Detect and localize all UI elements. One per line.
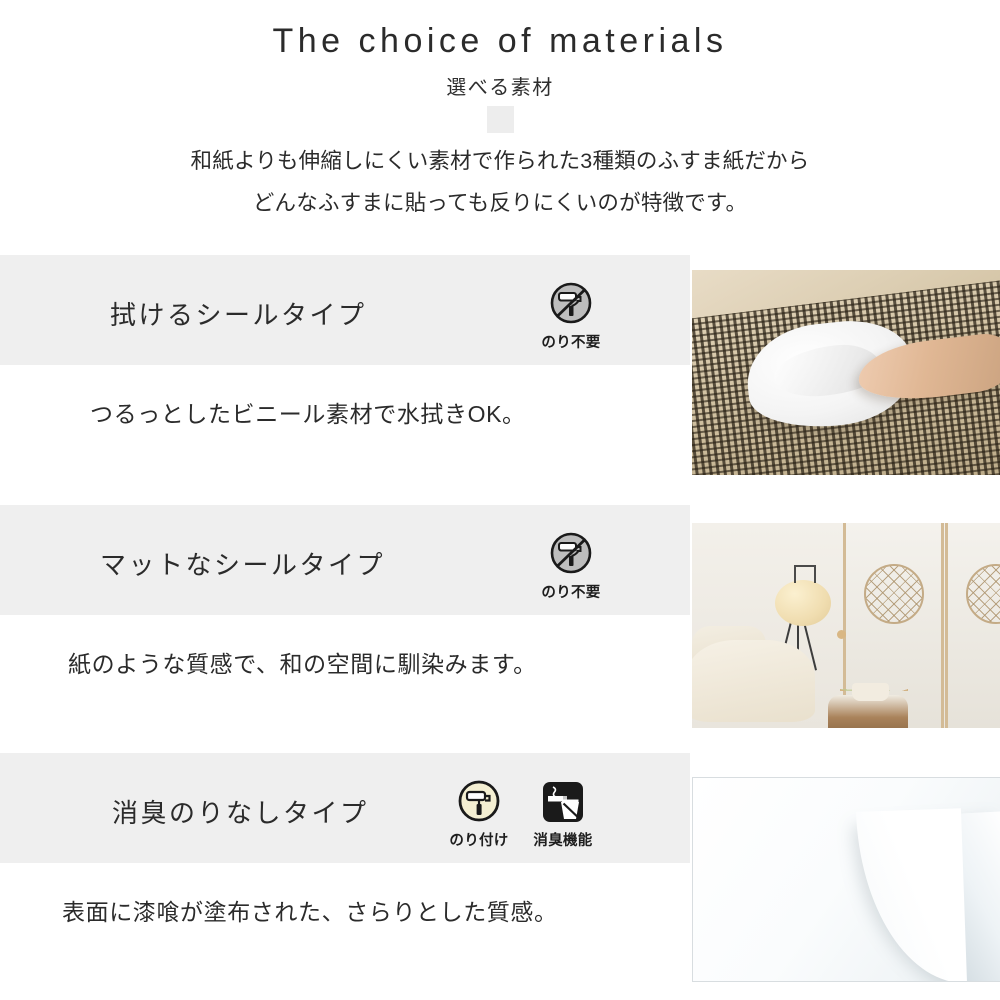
lead-line-2: どんなふすまに貼っても反りにくいのが特徴です。 [0,182,1000,224]
section-1-badges: のり不要 [540,281,602,352]
page-title: The choice of materials [0,22,1000,61]
material-section-1: 拭けるシールタイプ のり不要 つるっとしたビニール素材で水拭きOK。 [0,255,1000,485]
badge-glue-applied: のり付け [448,779,510,850]
section-1-description: つるっとしたビニール素材で水拭きOK。 [90,395,526,429]
section-3-badges: のり付け 消臭機能 [448,779,594,850]
material-section-2: マットなシールタイプ のり不要 紙のような質感で、和の空間に馴染みます。 [0,505,1000,735]
badge-no-glue-label: のり不要 [541,331,600,352]
paint-roller-icon [455,779,503,827]
boucle-chair [692,640,815,722]
japanese-interior-photo [692,523,1000,728]
decorative-swatch [487,106,514,133]
badge-deodorant-label: 消臭機能 [533,829,592,850]
page-subtitle: 選べる素材 [0,71,1000,100]
lead-paragraph: 和紙よりも伸縮しにくい素材で作られた3種類のふすま紙だから どんなふすまに貼って… [0,140,1000,224]
fusuma-panel-2 [945,523,1000,728]
section-3-title: 消臭のりなしタイプ [112,793,369,830]
towel-wiping-woven-mat-photo [692,270,1000,475]
paint-roller-prohibited-icon [547,281,595,329]
plant-pot [852,683,889,701]
badge-no-glue: のり不要 [540,531,602,602]
section-3-description: 表面に漆喰が塗布された、さらりとした質感。 [62,893,558,927]
badge-deodorant: 消臭機能 [532,779,594,850]
badge-no-glue: のり不要 [540,281,602,352]
white-curled-paper-photo [692,777,1000,982]
section-2-title: マットなシールタイプ [100,545,385,582]
material-section-3: 消臭のりなしタイプ のり付け [0,753,1000,1000]
lead-line-1: 和紙よりも伸縮しにくい素材で作られた3種類のふすま紙だから [0,140,1000,182]
paint-roller-prohibited-icon [547,531,595,579]
section-1-title: 拭けるシールタイプ [110,295,367,332]
section-2-badges: のり不要 [540,531,602,602]
page-root: The choice of materials 選べる素材 和紙よりも伸縮しにく… [0,0,1000,1000]
badge-glue-applied-label: のり付け [449,829,508,850]
section-2-description: 紙のような質感で、和の空間に馴染みます。 [68,645,537,679]
badge-no-glue-label: のり不要 [541,581,600,602]
deodorant-cigarette-trash-icon [539,779,587,827]
